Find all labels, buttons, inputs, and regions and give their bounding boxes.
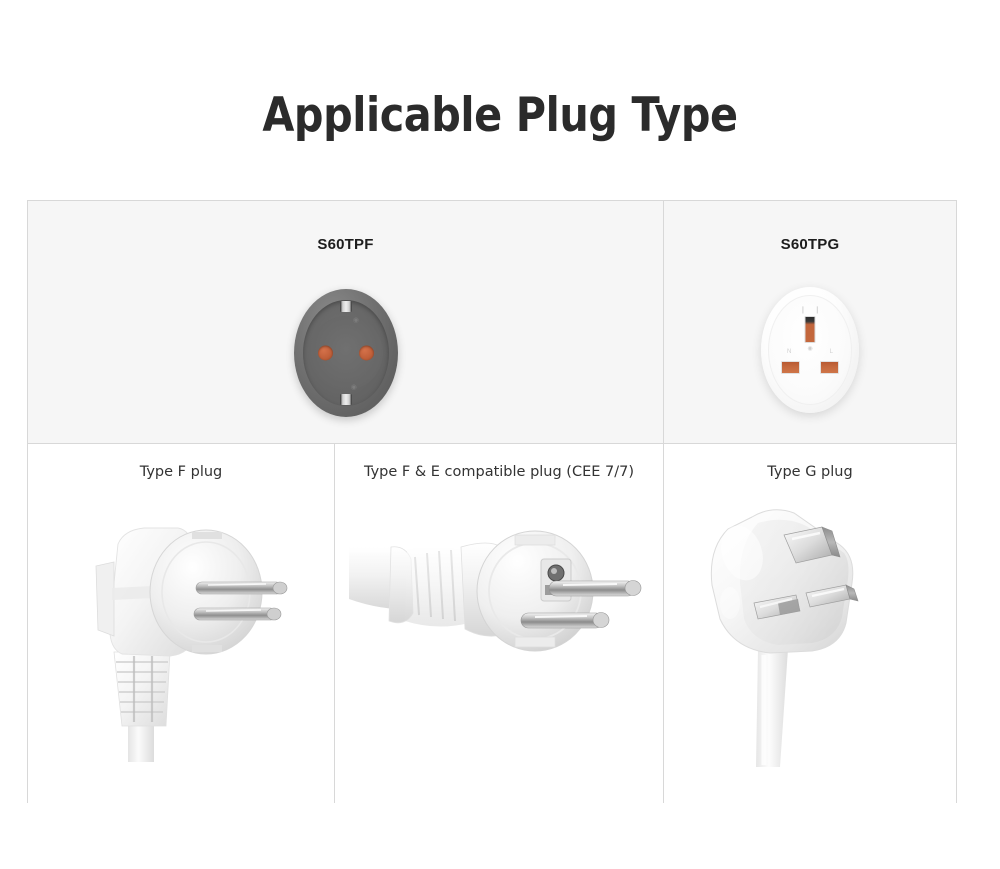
plug-caption-type-f: Type F plug — [28, 464, 334, 480]
socket-neutral-slot — [781, 361, 800, 374]
model-cell-s60tpf: S60TPF ◉ ◉ — [28, 201, 664, 443]
plug-row: Type F plug — [28, 444, 956, 803]
plug-cell-type-fe: Type F & E compatible plug (CEE 7/7) — [335, 444, 664, 803]
socket-marking-left: ┃ — [801, 307, 805, 314]
plug-cell-type-f: Type F plug — [28, 444, 335, 803]
straight-cee77-plug-image — [349, 529, 649, 729]
plug-type-page: Applicable Plug Type S60TPF ◉ ◉ — [0, 0, 1000, 869]
earth-clip-top — [340, 301, 352, 312]
model-label-s60tpg: S60TPG — [664, 236, 956, 253]
socket-marking-top: ◉ — [353, 316, 359, 324]
uk-socket-icon: ┃ ┃ ◉ N L — [761, 287, 859, 413]
model-row: S60TPF ◉ ◉ S60TPG ┃ — [28, 201, 956, 444]
socket-marking-neutral: N — [787, 349, 791, 355]
schuko-socket-icon: ◉ ◉ — [294, 289, 398, 417]
model-cell-s60tpg: S60TPG ┃ ┃ ◉ N L — [664, 201, 956, 443]
earth-clip-bottom — [340, 394, 352, 405]
socket-live-slot — [820, 361, 839, 374]
uk-type-g-plug-image — [700, 499, 920, 769]
socket-marking-live: L — [830, 349, 833, 355]
plug-compatibility-table: S60TPF ◉ ◉ S60TPG ┃ — [27, 200, 957, 803]
socket-marking-center: ◉ — [807, 345, 812, 352]
plug-cell-type-g: Type G plug — [664, 444, 956, 803]
model-label-s60tpf: S60TPF — [28, 236, 663, 253]
socket-earth-slot — [805, 316, 816, 343]
socket-pin-hole-right — [359, 346, 374, 361]
socket-pin-hole-left — [318, 346, 333, 361]
plug-caption-type-fe: Type F & E compatible plug (CEE 7/7) — [335, 464, 663, 480]
page-title: Applicable Plug Type — [60, 88, 940, 143]
plug-caption-type-g: Type G plug — [664, 464, 956, 480]
socket-marking-right: ┃ — [815, 307, 819, 314]
socket-marking-bottom: ◉ — [351, 383, 357, 391]
angled-schuko-plug-image — [66, 504, 296, 764]
